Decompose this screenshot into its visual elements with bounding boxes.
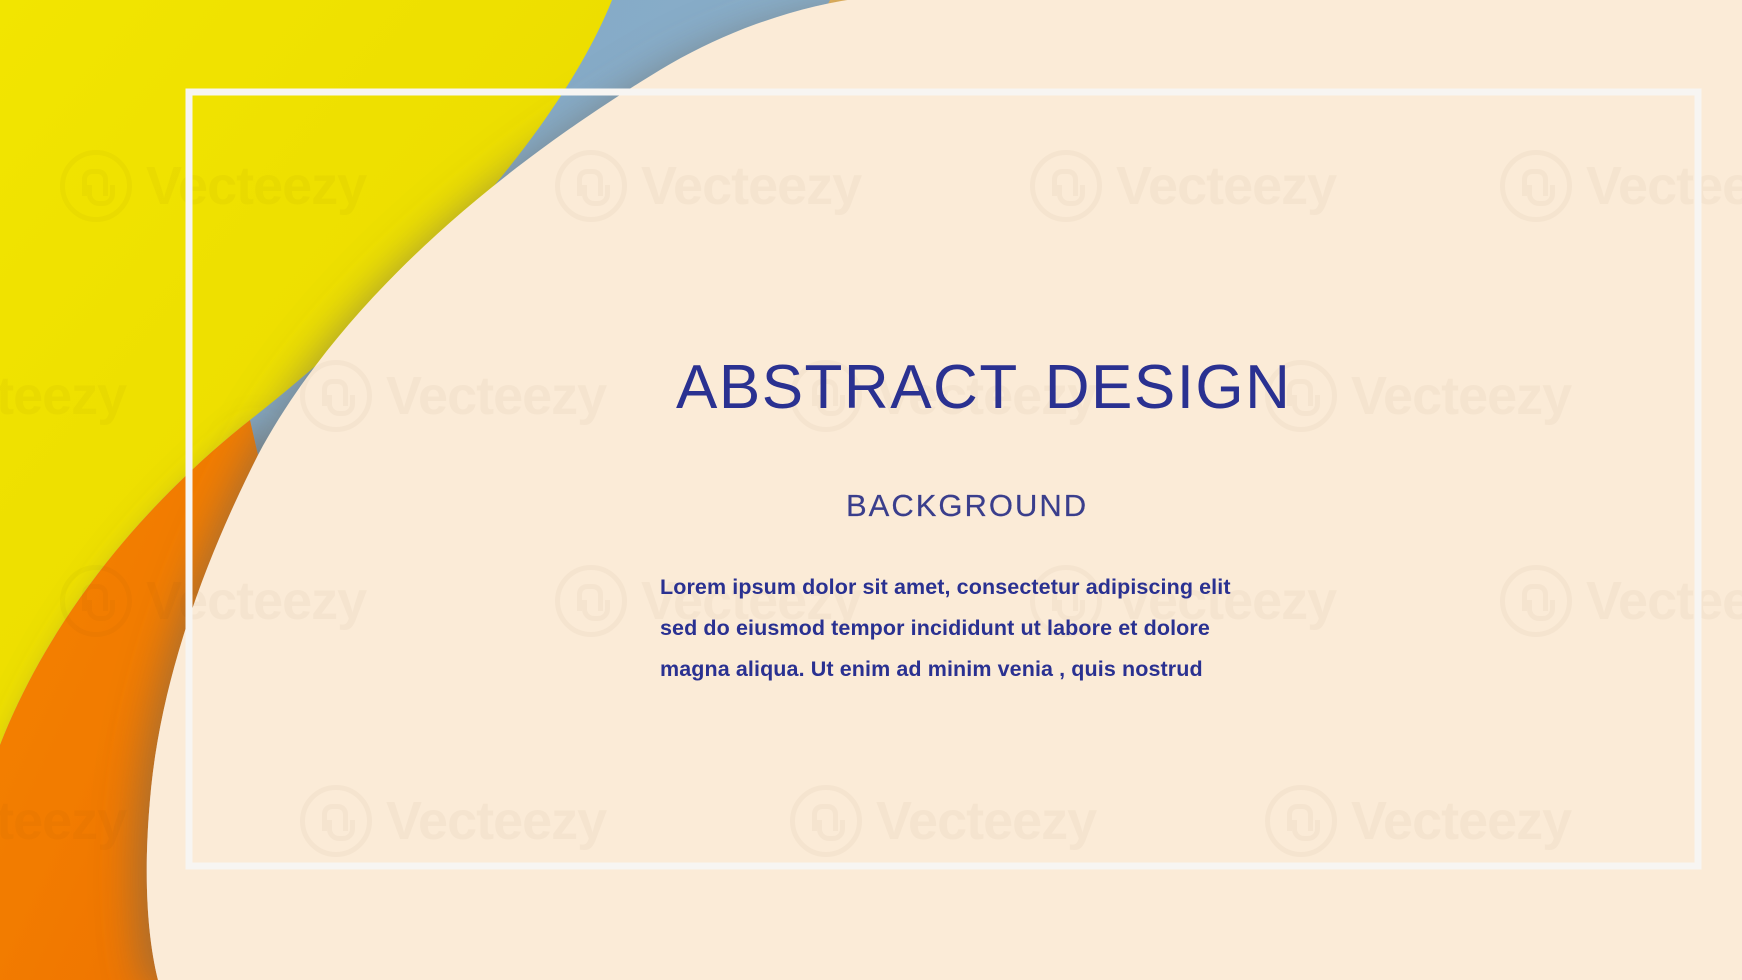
abstract-design-banner: Vecteezy Vecteezy Vecteezy Vecteezy Vect… (0, 0, 1742, 980)
frame-rectangle (189, 92, 1698, 866)
decorative-frame (0, 0, 1742, 980)
